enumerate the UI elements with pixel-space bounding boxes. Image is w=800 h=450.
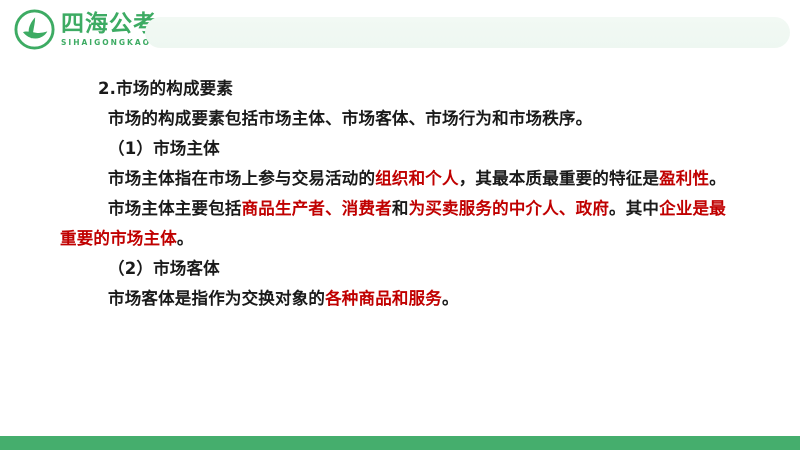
text-segment: ，其最本质最重要的特征是 bbox=[459, 169, 659, 188]
brand-text-block: 四海公考 SIHAIGONGKAO bbox=[61, 13, 157, 47]
text-segment: 。 bbox=[177, 229, 194, 248]
brand-logo[interactable]: 四海公考 SIHAIGONGKAO bbox=[14, 9, 157, 50]
text-segment: 市场主体主要包括 bbox=[108, 199, 242, 218]
footer-accent-bar bbox=[0, 436, 800, 450]
paragraph-market-subject-types: 市场主体主要包括商品生产者、消费者和为买卖服务的中介人、政府。其中企业是最重要的… bbox=[0, 194, 800, 254]
leaf-circle-logo-icon bbox=[14, 9, 55, 50]
highlight-segment: 盈利性 bbox=[659, 169, 709, 188]
text-segment: 市场客体是指作为交换对象的 bbox=[108, 289, 325, 308]
brand-name-cn: 四海公考 bbox=[61, 13, 157, 36]
text-segment: 。 bbox=[709, 169, 726, 188]
section-heading: 2.市场的构成要素 bbox=[0, 74, 800, 104]
highlight-segment: 组织和个人 bbox=[375, 169, 459, 188]
subheading-market-subject: （1）市场主体 bbox=[0, 134, 800, 164]
text-segment: 。其中 bbox=[609, 199, 659, 218]
paragraph-market-object-definition: 市场客体是指作为交换对象的各种商品和服务。 bbox=[0, 284, 800, 314]
paragraph-market-subject-definition: 市场主体指在市场上参与交易活动的组织和个人，其最本质最重要的特征是盈利性。 bbox=[0, 164, 800, 194]
brand-name-en: SIHAIGONGKAO bbox=[61, 39, 157, 47]
highlight-segment: 商品生产者、消费者 bbox=[242, 199, 392, 218]
slide-content: 2.市场的构成要素 市场的构成要素包括市场主体、市场客体、市场行为和市场秩序。 … bbox=[0, 74, 800, 314]
highlight-segment: 为买卖服务的中介人、政府 bbox=[409, 199, 609, 218]
intro-paragraph: 市场的构成要素包括市场主体、市场客体、市场行为和市场秩序。 bbox=[0, 104, 800, 134]
text-segment: 市场主体指在市场上参与交易活动的 bbox=[108, 169, 375, 188]
header-pill-bar bbox=[145, 17, 790, 48]
slide-header: 四海公考 SIHAIGONGKAO bbox=[0, 0, 800, 62]
text-segment: 。 bbox=[442, 289, 459, 308]
subheading-market-object: （2）市场客体 bbox=[0, 254, 800, 284]
highlight-segment: 各种商品和服务 bbox=[325, 289, 442, 308]
text-segment: 和 bbox=[392, 199, 409, 218]
